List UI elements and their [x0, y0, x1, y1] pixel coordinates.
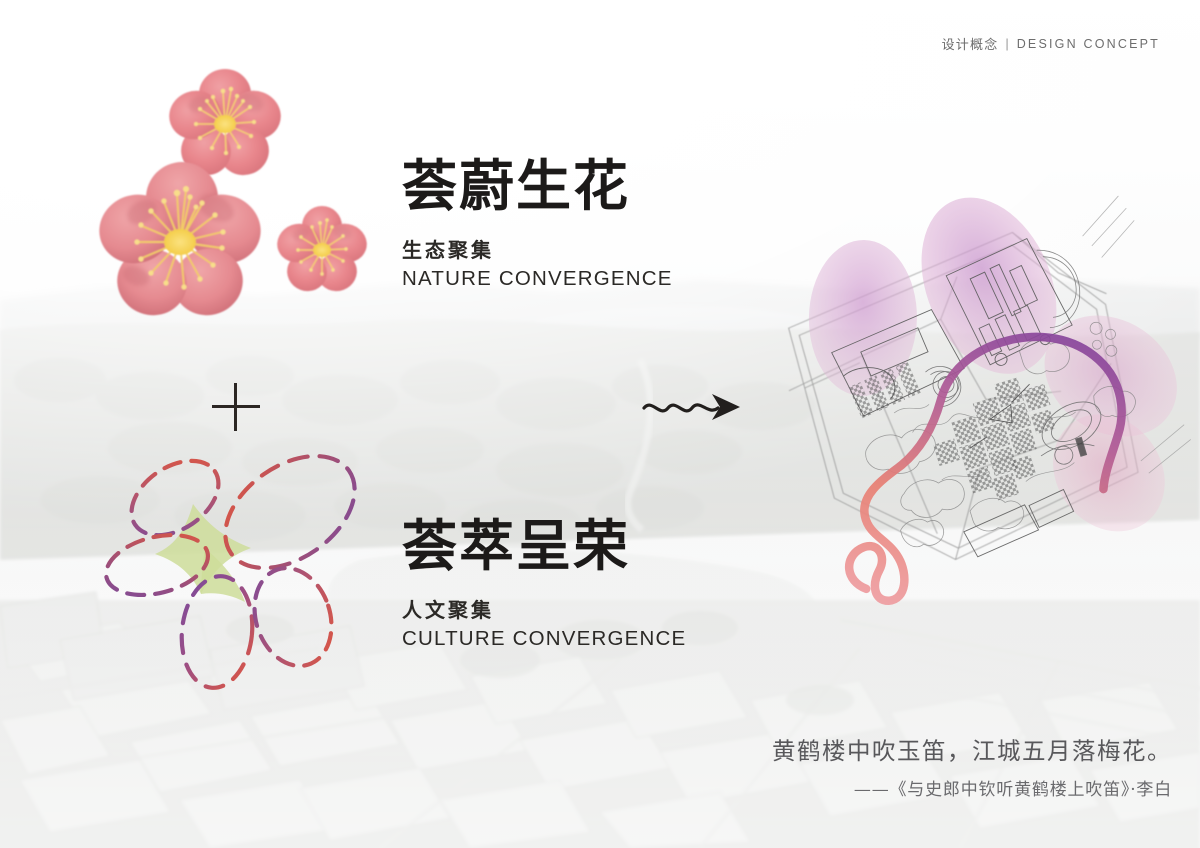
site-masterplan-diagram — [762, 218, 1182, 598]
concept-subtitle-en-nature: NATURE CONVERGENCE — [402, 267, 673, 291]
plus-operator-icon — [212, 383, 260, 431]
header-title-en: DESIGN CONCEPT — [1017, 37, 1160, 51]
poem-line: 黄鹤楼中吹玉笛，江城五月落梅花。 — [772, 732, 1172, 766]
header-separator: | — [1005, 36, 1009, 51]
slide-header: 设计概念 | DESIGN CONCEPT — [942, 34, 1160, 53]
concept-block-culture: 荟萃呈荣 人文聚集 CULTURE CONVERGENCE — [402, 518, 686, 651]
concept-subtitle-cn-culture: 人文聚集 — [402, 594, 686, 623]
wavy-arrow-right-icon — [640, 386, 750, 426]
concept-subtitle-en-culture: CULTURE CONVERGENCE — [402, 627, 686, 651]
concept-block-nature: 荟蔚生花 生态聚集 NATURE CONVERGENCE — [402, 158, 673, 291]
slide-root: 设计概念 | DESIGN CONCEPT — [0, 0, 1200, 848]
plum-blossom-cluster-icon — [100, 72, 390, 342]
abstract-dashed-flower-icon — [105, 452, 385, 697]
header-title-cn: 设计概念 — [942, 34, 999, 53]
concept-subtitle-cn-nature: 生态聚集 — [402, 234, 673, 263]
poem-block: 黄鹤楼中吹玉笛，江城五月落梅花。 ——《与史郎中钦听黄鹤楼上吹笛》·李白 — [772, 732, 1172, 800]
concept-title-culture: 荟萃呈荣 — [402, 518, 686, 576]
poem-attribution: ——《与史郎中钦听黄鹤楼上吹笛》·李白 — [772, 775, 1172, 800]
concept-title-nature: 荟蔚生花 — [402, 158, 673, 216]
